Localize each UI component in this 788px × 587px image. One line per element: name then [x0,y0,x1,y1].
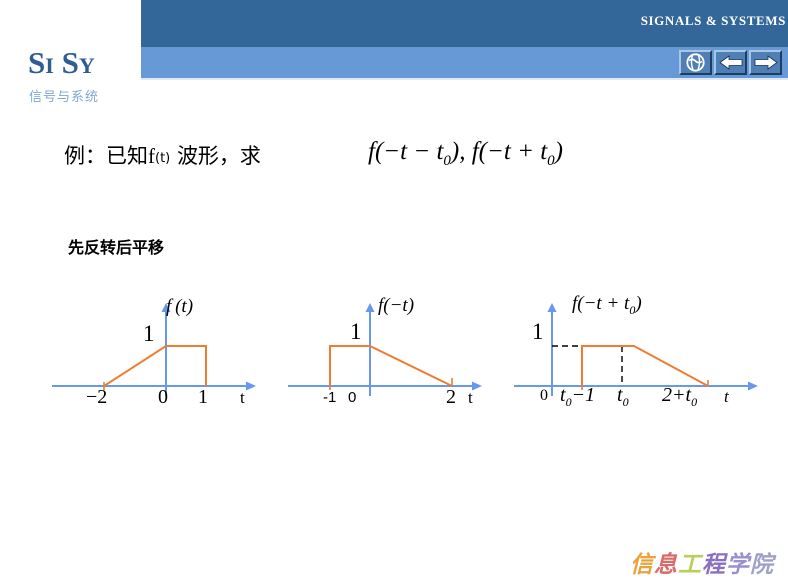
nav-buttons [679,50,782,75]
globe-icon[interactable] [679,50,712,75]
watermark-char-1: 信 [630,552,654,578]
graph2-tick-neg1: -1 [323,389,336,406]
title-suffix: 波形，求 [177,144,261,168]
graph3-tick-t0-minus-1: t0−1 [560,384,595,410]
graph3-tick-zero: 0 [540,387,548,405]
title-f-symbol: f [148,144,155,168]
graph1-axis-label: t [240,388,245,408]
logo-i: I [45,53,54,78]
arrow-left-icon[interactable] [714,50,747,75]
arrow-right-icon[interactable] [749,50,782,75]
graph1-function-label: f (t) [166,296,193,318]
logo-wordmark: SI SY [28,47,95,78]
title-formula: f(−t − t0), f(−t + t0) [368,138,563,170]
logo-s1: S [28,45,45,80]
title-t-arg: (t) [155,151,170,166]
graph1-tick-one: 1 [198,386,208,409]
graph3-tick-two-plus-t0: 2+t0 [662,384,697,410]
title-prefix: 例：已知 [64,144,148,168]
graph2-amplitude-label: 1 [350,319,362,345]
watermark-char-3: 工 [678,552,702,578]
graph2-axis-label: t [468,388,473,408]
slide-subtitle: 先反转后平移 [68,234,164,258]
watermark-char-4: 程 [702,552,726,578]
brand-title: SIGNALS & SYSTEMS [641,13,786,29]
graph1-tick-zero: 0 [158,386,168,409]
graph2-function-label: f(−t) [378,295,414,317]
graph-f-of-minus-t-plus-t0: f(−t + t0) 1 0 t0−1 t0 2+t0 t [512,288,777,418]
watermark-char-5: 学 [726,552,750,578]
watermark-char-6: 院 [750,552,774,578]
slide-header: SIGNALS & SYSTEMS SI SY 信号与系统 [0,0,788,80]
footer-watermark: 信息工程学院 [630,545,774,579]
logo-y: Y [79,53,95,78]
formula-text: f(−t − t0), f(−t + t0) [368,138,563,165]
logo-box: SI SY 信号与系统 [0,0,141,118]
graph3-axis-label: t [724,387,729,407]
graph1-amplitude-label: 1 [143,321,155,347]
graph3-amplitude-label: 1 [532,319,544,345]
graph1-tick-neg2: −2 [86,386,107,409]
graph2-tick-zero: 0 [348,389,356,406]
graph-f-of-minus-t: f(−t) 1 -1 0 2 t [286,288,496,418]
watermark-char-2: 息 [654,552,678,578]
graph-f-of-t: f (t) 1 −2 0 1 t [48,288,263,418]
graph3-function-label: f(−t + t0) [572,293,642,318]
logo-s2: S [62,45,79,80]
page-title: 例：已知f(t) 波形，求 [64,140,261,170]
graph2-tick-two: 2 [446,386,456,409]
graph3-tick-t0: t0 [617,384,629,410]
logo-subtitle: 信号与系统 [29,86,99,105]
